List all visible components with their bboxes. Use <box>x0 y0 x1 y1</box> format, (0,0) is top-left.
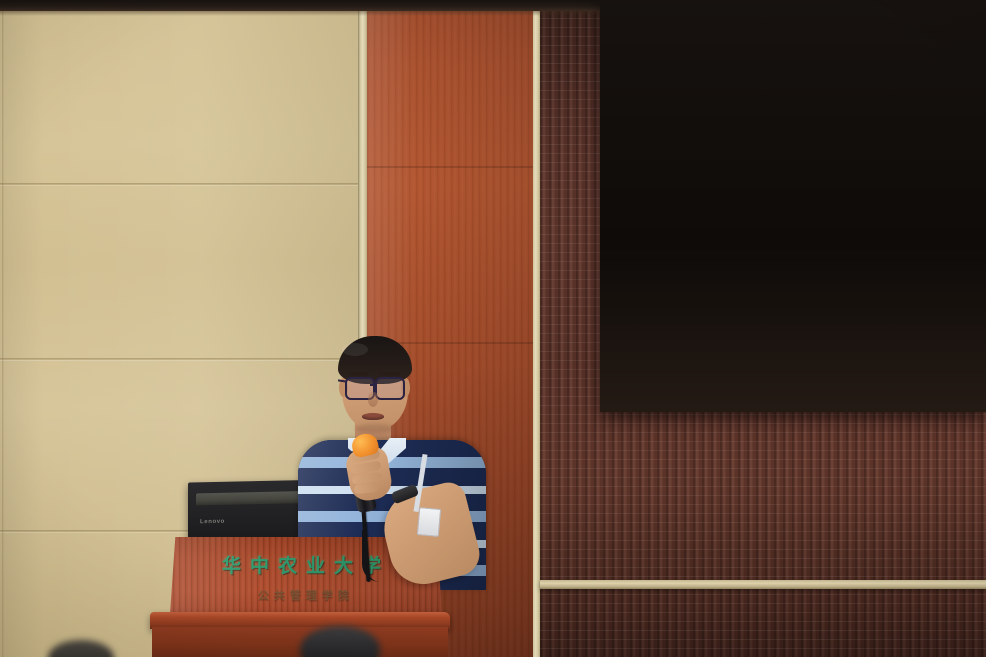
wood-joint-1 <box>367 166 533 168</box>
ceiling-beam <box>0 0 620 11</box>
photo-scene: 党纪学习 Lenovo <box>0 0 986 657</box>
wall-seam-vertical <box>2 0 4 657</box>
glasses-lens-right <box>375 377 405 400</box>
monitor-brand-label: Lenovo <box>200 519 225 526</box>
speaker-nose <box>368 392 378 407</box>
speaker-mouth <box>362 413 384 420</box>
ceiling-beam-shadow <box>0 11 600 16</box>
speaker-chin-shadow <box>355 424 395 434</box>
acoustic-panel-trim <box>540 580 986 589</box>
speaker-eyebrow-right <box>378 372 400 375</box>
glasses-bridge <box>370 384 377 386</box>
projection-screen-frame: 党纪学习 <box>600 0 986 412</box>
speaker-eyebrow-left <box>347 372 369 375</box>
speaker-badge <box>417 507 441 537</box>
wall-seam-1 <box>0 183 362 185</box>
podium-department-name: 公共管理学院 <box>167 587 445 603</box>
microphone-cable-loop <box>362 530 386 582</box>
